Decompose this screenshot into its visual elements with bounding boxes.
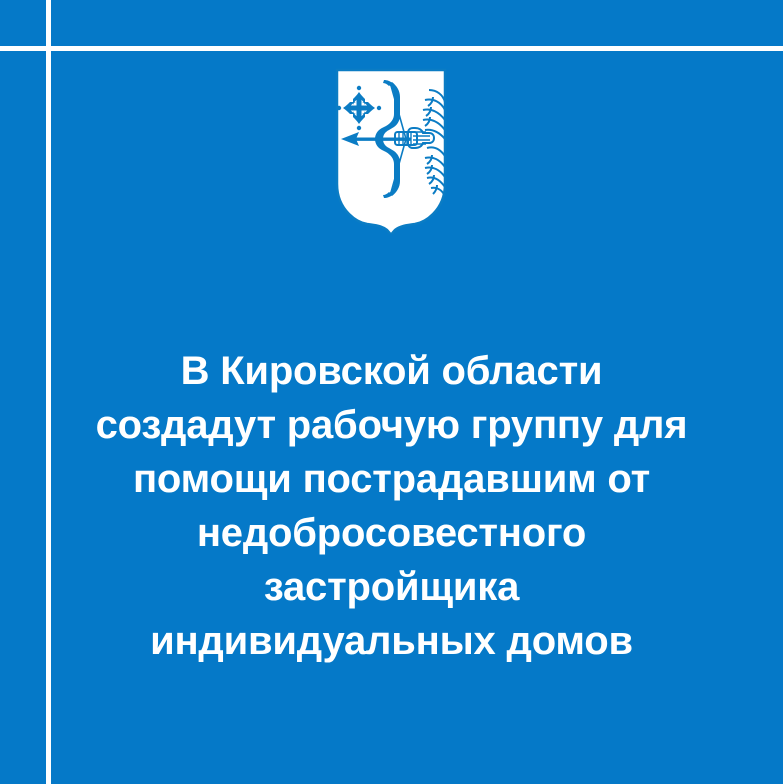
page-title: В Кировской области создадут рабочую гру… xyxy=(0,344,783,668)
headline-line-2: создадут рабочую группу для xyxy=(0,398,783,452)
divider-horizontal xyxy=(0,46,783,51)
poster-card: В Кировской области создадут рабочую гру… xyxy=(0,0,783,784)
coat-of-arms-kirov-oblast-emblem xyxy=(333,66,449,234)
headline-line-3: помощи пострадавшим от xyxy=(0,452,783,506)
headline-line-1: В Кировской области xyxy=(0,344,783,398)
headline-line-5: застройщика xyxy=(0,560,783,614)
headline-line-6: индивидуальных домов xyxy=(0,614,783,668)
headline-line-4: недобросовестного xyxy=(0,506,783,560)
